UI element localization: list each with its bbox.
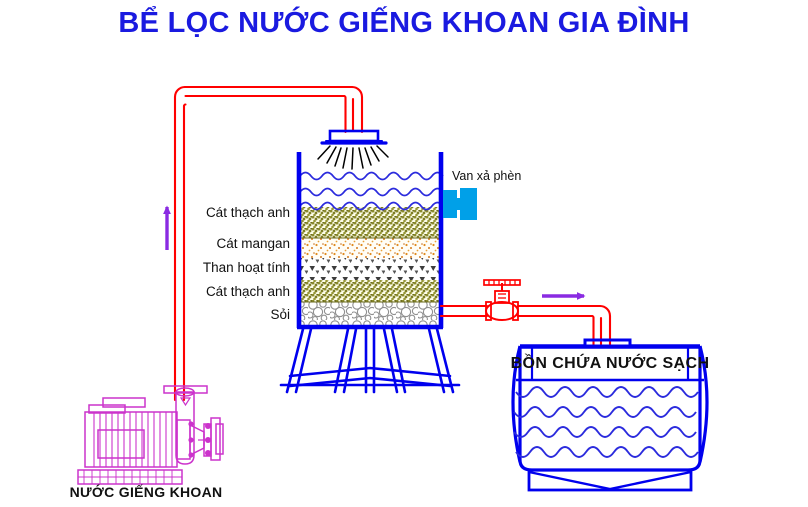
layer-label-manganese: Cát mangan <box>216 236 290 251</box>
page-title: BỂ LỌC NƯỚC GIẾNG KHOAN GIA ĐÌNH <box>118 5 689 39</box>
source-water-label: NƯỚC GIẾNG KHOAN <box>70 483 223 500</box>
layer-label-carbon: Than hoạt tính <box>203 260 290 275</box>
spray-head <box>318 131 388 169</box>
layer-manganese-sand <box>299 238 441 258</box>
drain-valve-label: Van xả phèn <box>452 169 521 183</box>
gate-valve[interactable] <box>484 280 520 320</box>
layer-label-gravel: Sỏi <box>270 307 290 322</box>
water-filter-diagram: BỂ LỌC NƯỚC GIẾNG KHOAN GIA ĐÌNH <box>0 0 808 507</box>
well-pump <box>78 386 223 484</box>
filter-tank <box>297 152 443 328</box>
tank-water-waves <box>300 173 443 210</box>
filter-media-layers <box>299 207 441 326</box>
layer-label-quartz-bottom: Cát thạch anh <box>206 284 290 299</box>
tank-stand <box>281 329 459 392</box>
clean-tank-base <box>529 470 691 490</box>
drain-valve[interactable] <box>443 188 477 220</box>
layer-label-quartz-top: Cát thạch anh <box>206 205 290 220</box>
diagram-canvas: BỂ LỌC NƯỚC GIẾNG KHOAN GIA ĐÌNH <box>0 0 808 507</box>
clean-tank-label: BỒN CHỨA NƯỚC SẠCH <box>511 353 710 372</box>
layer-activated-carbon <box>299 258 441 280</box>
clean-tank-water-waves <box>514 387 698 457</box>
spray-jets <box>318 146 388 169</box>
layer-quartz-sand-bottom <box>299 280 441 302</box>
layer-quartz-sand-top <box>299 207 441 238</box>
layer-gravel <box>299 302 441 326</box>
